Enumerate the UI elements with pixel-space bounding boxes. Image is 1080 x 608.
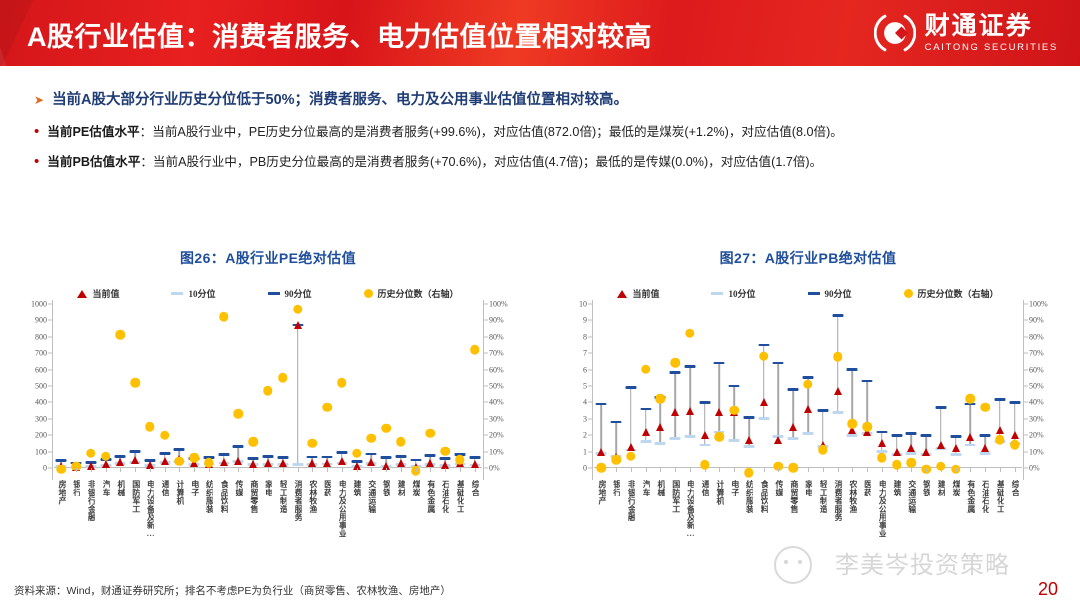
x-tick-mark [61, 468, 62, 472]
percentile-marker [470, 345, 480, 355]
p90-cap [788, 388, 799, 391]
x-axis-label: 电力及公用事业 [338, 480, 346, 537]
x-axis-label: 建材 [397, 480, 405, 496]
current-value-marker [671, 408, 679, 416]
p90-cap [980, 434, 991, 437]
triangle-marker-icon [77, 290, 87, 298]
chart-pe-series [54, 304, 482, 468]
dot-bullet-icon: • [34, 124, 39, 139]
x-axis-label: 通信 [161, 480, 169, 496]
y-tick-label: 700 [35, 349, 47, 358]
data-point-group [393, 304, 408, 468]
p90-cap [640, 408, 651, 411]
p90-cap [670, 371, 681, 374]
data-point-group [452, 304, 467, 468]
x-tick-mark [371, 468, 372, 472]
data-point-group [408, 304, 423, 468]
data-point-group [128, 304, 143, 468]
percentile-marker [367, 434, 377, 444]
p10-cap [788, 437, 799, 440]
x-axis-label: 电子 [190, 480, 198, 496]
range-stem [674, 373, 676, 439]
dot-bullet-icon: • [34, 154, 39, 169]
x-tick-mark [616, 468, 617, 472]
x-tick-mark [179, 468, 180, 472]
data-point-group [438, 304, 453, 468]
x-axis-label: 有色金属 [966, 480, 974, 513]
x-axis-label: 汽车 [101, 480, 109, 496]
x-tick-mark [705, 468, 706, 472]
y-tick-mark [1024, 451, 1028, 452]
current-value-marker [249, 460, 257, 468]
data-point-group [638, 304, 653, 468]
p10-cap [640, 440, 651, 443]
legend-p90: 90分位 [268, 287, 312, 300]
x-tick-mark [926, 468, 927, 472]
current-value-marker [922, 448, 930, 456]
percentile-marker [1010, 440, 1020, 450]
x-tick-mark [764, 468, 765, 472]
y-tick-mark [1024, 386, 1028, 387]
data-point-group [712, 304, 727, 468]
percentile-marker [263, 386, 273, 396]
y-tick-label: 0 [583, 464, 587, 473]
data-point-group [364, 304, 379, 468]
y-tick-label: 300 [35, 414, 47, 423]
current-value-marker [426, 459, 434, 467]
p90-cap [366, 453, 377, 456]
p90-cap [862, 380, 873, 383]
data-point-group [113, 304, 128, 468]
p90-cap [906, 432, 917, 435]
logo-text-en: CAITONG SECURITIES [925, 43, 1058, 53]
y-tick-mark [484, 435, 488, 436]
x-tick-mark [312, 468, 313, 472]
data-point-group [467, 304, 482, 468]
chart-pe-yaxis-left: 01002003004005006007008009001000 [8, 300, 52, 480]
percentile-marker [175, 457, 185, 467]
range-stem [645, 409, 647, 442]
data-point-group [992, 304, 1007, 468]
x-axis-label: 建材 [937, 480, 945, 496]
current-value-marker [131, 456, 139, 464]
x-axis-label: 钢铁 [382, 480, 390, 496]
y-tick-label: 0% [489, 464, 500, 473]
x-tick-mark [430, 468, 431, 472]
current-value-marker [789, 423, 797, 431]
x-tick-mark [852, 468, 853, 472]
x-axis-label: 轻工制造 [819, 480, 827, 513]
current-value-marker [774, 436, 782, 444]
x-tick-mark [719, 468, 720, 472]
chart-pb-xlabels: 房地产银行非银行金融汽车机械国防军工电力设备及新…通信计算机电子纺织服装食品饮料… [594, 480, 1022, 556]
percentile-marker [234, 409, 244, 419]
x-axis-label: 机械 [116, 480, 124, 496]
chart-pb-yaxis-left: 012345678910 [548, 300, 592, 480]
percentile-marker [219, 312, 229, 322]
y-tick-label: 1 [583, 447, 587, 456]
x-axis-label: 商贸零售 [249, 480, 257, 513]
chart-pb-panel: 图27：A股行业PB绝对估值 当前值 10分位 90分位 历史分位数（右轴） 0… [548, 248, 1068, 578]
data-point-group [874, 304, 889, 468]
current-value-marker [715, 408, 723, 416]
y-tick-label: 7 [583, 349, 587, 358]
current-value-marker [996, 426, 1004, 434]
bullet-lead: ➤ 当前A股大部分行业历史分位低于50%；消费者服务、电力及公用事业估值位置相对… [0, 90, 1080, 110]
p90-cap [994, 398, 1005, 401]
data-point-group [1007, 304, 1022, 468]
x-axis-label: 石油石化 [981, 480, 989, 513]
x-tick-mark [778, 468, 779, 472]
axis-line-right [483, 300, 484, 480]
x-tick-mark [897, 468, 898, 472]
current-value-marker [397, 459, 405, 467]
data-point-group [98, 304, 113, 468]
legend-p90: 90分位 [808, 287, 852, 300]
y-tick-label: 500 [35, 382, 47, 391]
data-point-group [683, 304, 698, 468]
x-axis-label: 电力设备及新… [146, 480, 154, 538]
x-tick-mark [956, 468, 957, 472]
percentile-marker [611, 455, 621, 465]
chart-pe-xlabels: 房地产银行非银行金融汽车机械国防军工电力设备及新…通信计算机电子纺织服装食品饮料… [54, 480, 482, 556]
y-tick-label: 90% [489, 316, 504, 325]
current-value-marker [308, 459, 316, 467]
data-point-group [231, 304, 246, 468]
data-point-group [275, 304, 290, 468]
x-tick-mark [298, 468, 299, 472]
x-tick-mark [327, 468, 328, 472]
percentile-marker [833, 352, 843, 362]
y-tick-mark [1024, 320, 1028, 321]
data-point-group [697, 304, 712, 468]
percentile-marker [322, 402, 332, 412]
current-value-marker [907, 444, 915, 452]
y-tick-mark [1024, 435, 1028, 436]
percentile-marker [907, 458, 917, 468]
current-value-marker [701, 431, 709, 439]
current-value-marker [338, 457, 346, 465]
p90-cap [440, 457, 451, 460]
current-value-marker [834, 387, 842, 395]
x-tick-mark [882, 468, 883, 472]
x-axis-label: 纺织服装 [205, 480, 213, 513]
p90-cap [336, 451, 347, 454]
p10-cap [292, 463, 303, 466]
x-axis-label: 银行 [72, 480, 80, 496]
x-axis-label: 农林牧渔 [308, 480, 316, 513]
current-value-marker [893, 448, 901, 456]
y-tick-label: 4 [583, 398, 587, 407]
y-tick-label: 100 [35, 447, 47, 456]
data-point-group [261, 304, 276, 468]
p90-cap [729, 385, 740, 388]
percentile-marker [670, 358, 680, 368]
x-axis-label: 食品饮料 [220, 480, 228, 513]
current-value-marker [323, 459, 331, 467]
y-tick-label: 80% [1029, 332, 1044, 341]
x-tick-mark [838, 468, 839, 472]
line-marker-icon [171, 292, 183, 295]
current-value-marker [760, 398, 768, 406]
p90-cap [773, 362, 784, 365]
x-axis-label: 建筑 [892, 480, 900, 496]
logo-text-cn: 财通证券 [925, 14, 1058, 39]
x-tick-mark [475, 468, 476, 472]
current-value-marker [367, 458, 375, 466]
x-tick-mark [970, 468, 971, 472]
percentile-marker [396, 437, 406, 447]
data-point-group [609, 304, 624, 468]
y-tick-mark [1024, 353, 1028, 354]
x-tick-mark [135, 468, 136, 472]
data-point-group [978, 304, 993, 468]
x-axis-label: 通信 [701, 480, 709, 496]
arrow-bullet-icon: ➤ [34, 90, 44, 106]
data-point-group [172, 304, 187, 468]
data-point-group [653, 304, 668, 468]
y-tick-label: 70% [489, 349, 504, 358]
p90-cap [425, 454, 436, 457]
y-tick-label: 900 [35, 316, 47, 325]
chart-pe-plot: 01002003004005006007008009001000 0%10%20… [8, 300, 528, 480]
percentile-marker [641, 365, 651, 375]
x-axis-label: 非银行金融 [87, 480, 95, 521]
data-point-group [216, 304, 231, 468]
x-axis-label: 消费者服务 [293, 480, 301, 521]
range-stem [615, 422, 617, 456]
current-value-marker [804, 405, 812, 413]
x-tick-mark [209, 468, 210, 472]
data-point-group [668, 304, 683, 468]
x-axis-label: 交通运输 [367, 480, 375, 513]
y-tick-mark [484, 468, 488, 469]
current-value-marker [981, 444, 989, 452]
y-tick-mark [1024, 369, 1028, 370]
line-marker-icon [808, 292, 820, 295]
p90-cap [876, 431, 887, 434]
current-value-marker [686, 407, 694, 415]
bullet-pe-label: 当前PE估值水平 [47, 125, 139, 139]
data-point-group [305, 304, 320, 468]
x-axis-label: 综合 [470, 480, 478, 496]
x-axis-label: 汽车 [641, 480, 649, 496]
range-stem [297, 325, 299, 465]
legend-current: 当前值 [77, 287, 119, 300]
x-axis-label: 房地产 [57, 480, 65, 505]
x-tick-mark [808, 468, 809, 472]
current-value-marker [161, 457, 169, 465]
y-tick-label: 5 [583, 382, 587, 391]
page-title: A股行业估值：消费者服务、电力估值位置相对较高 [27, 15, 652, 54]
p10-cap [699, 444, 710, 447]
x-axis-label: 基础化工 [456, 480, 464, 513]
percentile-marker [352, 448, 362, 458]
y-tick-label: 1000 [31, 300, 47, 309]
dot-marker-icon [364, 289, 373, 298]
percentile-marker [848, 419, 858, 429]
percentile-marker [248, 437, 258, 447]
data-point-group [320, 304, 335, 468]
y-tick-mark [484, 353, 488, 354]
current-value-marker [642, 428, 650, 436]
y-tick-label: 9 [583, 316, 587, 325]
p90-cap [950, 435, 961, 438]
p90-cap [233, 445, 244, 448]
percentile-marker [803, 379, 813, 389]
x-tick-mark [675, 468, 676, 472]
y-tick-label: 80% [489, 332, 504, 341]
percentile-marker [759, 352, 769, 362]
legend-p10: 10分位 [171, 287, 215, 300]
y-tick-label: 70% [1029, 349, 1044, 358]
y-tick-label: 200 [35, 431, 47, 440]
legend-pct: 历史分位数（右轴） [364, 287, 459, 300]
p90-cap [381, 456, 392, 459]
current-value-marker [937, 441, 945, 449]
y-tick-label: 3 [583, 414, 587, 423]
x-axis-label: 家电 [804, 480, 812, 496]
legend-p10-label: 10分位 [728, 287, 755, 300]
x-axis-label: 传媒 [774, 480, 782, 496]
data-point-group [742, 304, 757, 468]
p90-cap [699, 401, 710, 404]
percentile-marker [145, 422, 155, 432]
current-value-marker [878, 439, 886, 447]
x-axis-label: 交通运输 [907, 480, 915, 513]
x-tick-mark [194, 468, 195, 472]
y-tick-mark [484, 369, 488, 370]
current-value-marker [116, 458, 124, 466]
legend-p90-label: 90分位 [825, 287, 852, 300]
y-tick-mark [484, 336, 488, 337]
data-point-group [54, 304, 69, 468]
percentile-marker [381, 424, 391, 434]
y-tick-label: 8 [583, 332, 587, 341]
current-value-marker [264, 459, 272, 467]
x-axis-label: 机械 [656, 480, 664, 496]
current-value-marker [656, 423, 664, 431]
data-point-group [830, 304, 845, 468]
p90-cap [218, 453, 229, 456]
x-axis-label: 煤炭 [411, 480, 419, 496]
data-point-group [379, 304, 394, 468]
x-tick-mark [823, 468, 824, 472]
p90-cap [625, 386, 636, 389]
bullet-lead-text: 当前A股大部分行业历史分位低于50%；消费者服务、电力及公用事业估值位置相对较高… [52, 90, 628, 110]
percentile-marker [966, 394, 976, 404]
percentile-marker [293, 305, 303, 315]
x-tick-mark [150, 468, 151, 472]
y-tick-label: 10% [489, 447, 504, 456]
y-tick-label: 800 [35, 332, 47, 341]
percentile-marker [278, 373, 288, 383]
x-tick-mark [660, 468, 661, 472]
line-marker-icon [268, 292, 280, 295]
x-tick-mark [867, 468, 868, 472]
percentile-marker [626, 452, 636, 462]
x-tick-mark [646, 468, 647, 472]
x-axis-label: 纺织服装 [745, 480, 753, 513]
percentile-marker [862, 422, 872, 432]
data-point-group [246, 304, 261, 468]
y-tick-mark [484, 402, 488, 403]
x-axis-label: 医药 [323, 480, 331, 496]
data-point-group [157, 304, 172, 468]
x-axis-label: 轻工制造 [279, 480, 287, 513]
percentile-marker [130, 378, 140, 388]
x-axis-label: 国防军工 [671, 480, 679, 513]
percentile-marker [337, 378, 347, 388]
p90-cap [159, 452, 170, 455]
data-point-group [756, 304, 771, 468]
dot-marker-icon [904, 289, 913, 298]
x-tick-mark [401, 468, 402, 472]
p90-cap [817, 409, 828, 412]
y-tick-mark [484, 320, 488, 321]
x-tick-mark [911, 468, 912, 472]
p90-cap [684, 365, 695, 368]
x-tick-mark [793, 468, 794, 472]
percentile-marker [308, 438, 318, 448]
data-point-group [84, 304, 99, 468]
x-tick-mark [283, 468, 284, 472]
y-tick-label: 60% [1029, 365, 1044, 374]
p90-cap [410, 459, 421, 462]
legend-current: 当前值 [617, 287, 659, 300]
legend-current-label: 当前值 [632, 287, 659, 300]
legend-p10-label: 10分位 [188, 287, 215, 300]
x-axis-label: 电力及公用事业 [878, 480, 886, 537]
line-marker-icon [711, 292, 723, 295]
p90-cap [174, 448, 185, 451]
y-tick-label: 100% [489, 300, 508, 309]
data-point-group [904, 304, 919, 468]
y-tick-label: 600 [35, 365, 47, 374]
x-axis-label: 石油石化 [441, 480, 449, 513]
x-tick-mark [342, 468, 343, 472]
percentile-marker [101, 452, 111, 462]
chart-pe-yaxis-right: 0%10%20%30%40%50%60%70%80%90%100% [484, 300, 528, 480]
percentile-marker [426, 429, 436, 439]
brand-logo: 财通证券 CAITONG SECURITIES [874, 8, 1058, 58]
percentile-marker [440, 447, 450, 457]
x-axis-label: 医药 [863, 480, 871, 496]
chart-pe-title: 图26：A股行业PE绝对估值 [8, 248, 528, 268]
data-point-group [801, 304, 816, 468]
axis-line-left [52, 300, 53, 480]
bullet-pb-text: ：当前A股行业中，PB历史分位最高的是消费者服务(+70.6%)，对应估值(4.… [140, 155, 822, 169]
chart-pb-series [594, 304, 1022, 468]
x-axis-label: 国防军工 [131, 480, 139, 513]
x-tick-mark [1015, 468, 1016, 472]
p90-cap [832, 314, 843, 317]
x-tick-mark [631, 468, 632, 472]
range-stem [837, 315, 839, 412]
y-tick-mark [1024, 402, 1028, 403]
chart-pe-panel: 图26：A股行业PE绝对估值 当前值 10分位 90分位 历史分位数（右轴） 0… [8, 248, 528, 578]
current-value-marker [1011, 431, 1019, 439]
p10-cap [655, 442, 666, 445]
data-point-group [624, 304, 639, 468]
p10-cap [802, 432, 813, 435]
y-tick-label: 30% [1029, 414, 1044, 423]
y-tick-label: 400 [35, 398, 47, 407]
current-value-marker [627, 443, 635, 451]
bullet-pb: • 当前PB估值水平：当前A股行业中，PB历史分位最高的是消费者服务(+70.6… [0, 154, 1080, 172]
p90-cap [891, 434, 902, 437]
y-tick-label: 2 [583, 431, 587, 440]
